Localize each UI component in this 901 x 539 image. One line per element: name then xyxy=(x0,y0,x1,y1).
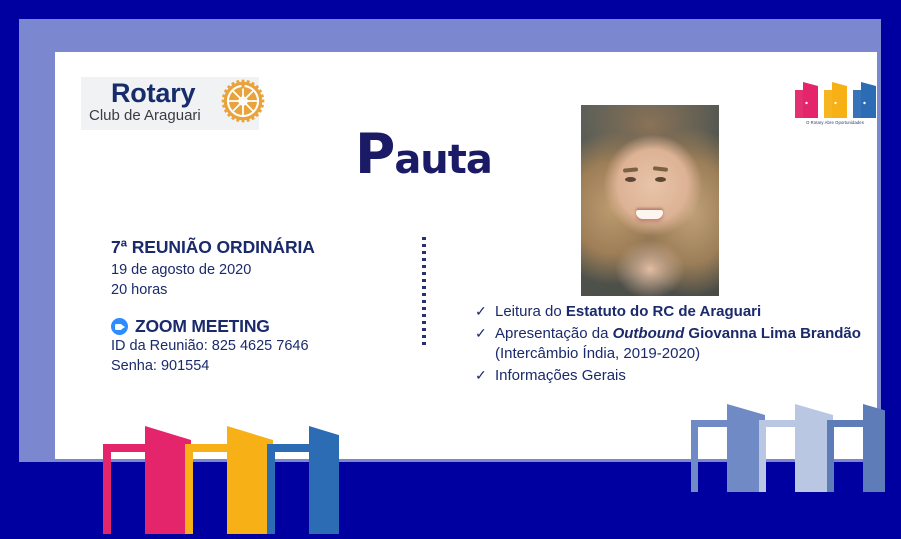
zoom-meeting-row: ZOOM MEETING xyxy=(111,316,411,337)
agenda-list: ✓Leitura do Estatuto do RC de Araguari✓A… xyxy=(475,302,865,388)
slide-content-panel: Rotary Club de Araguari xyxy=(55,52,877,459)
page-title: Pauta xyxy=(355,132,492,183)
check-icon: ✓ xyxy=(475,324,495,343)
page-title-capital: P xyxy=(355,122,394,186)
meeting-heading: 7ª REUNIÃO ORDINÁRIA xyxy=(111,237,411,258)
meeting-info-block: 7ª REUNIÃO ORDINÁRIA 19 de agosto de 202… xyxy=(111,237,411,376)
doors-right-icon xyxy=(689,384,885,492)
speaker-portrait-photo xyxy=(581,105,719,296)
rotary-club-name: Club de Araguari xyxy=(89,107,201,124)
portrait-brow-right xyxy=(653,166,668,171)
zoom-meeting-label: ZOOM MEETING xyxy=(135,316,270,337)
agenda-item: ✓Apresentação da Outbound Giovanna Lima … xyxy=(475,324,865,365)
rotary-club-logo: Rotary Club de Araguari xyxy=(81,77,259,130)
agenda-item-label: Leitura do Estatuto do RC de Araguari xyxy=(495,302,761,323)
theme-doors-icon xyxy=(789,74,881,120)
dotted-vertical-divider xyxy=(422,237,426,345)
agenda-item-label: Apresentação da Outbound Giovanna Lima B… xyxy=(495,324,865,365)
meeting-password: Senha: 901554 xyxy=(111,357,411,377)
rotary-wheel-icon xyxy=(217,75,269,127)
decorative-doors-bottom-left xyxy=(99,400,339,534)
agenda-item: ✓Leitura do Estatuto do RC de Araguari xyxy=(475,302,865,323)
meeting-date: 19 de agosto de 2020 xyxy=(111,261,411,281)
doors-left-icon xyxy=(99,400,339,534)
agenda-item-label: Informações Gerais xyxy=(495,366,626,387)
zoom-icon xyxy=(111,318,128,335)
portrait-eye-right xyxy=(655,177,666,182)
rotary-wordmark: Rotary xyxy=(111,78,195,109)
portrait-brow-left xyxy=(623,167,638,172)
rotary-theme-logo: O Rotary Abre Oportunidades xyxy=(789,74,881,136)
slide-inner-border: Rotary Club de Araguari xyxy=(19,19,881,462)
check-icon: ✓ xyxy=(475,366,495,385)
portrait-mouth xyxy=(636,210,663,219)
page-title-rest: auta xyxy=(394,137,492,183)
theme-logo-caption: O Rotary Abre Oportunidades xyxy=(789,120,881,125)
meeting-time: 20 horas xyxy=(111,281,411,301)
portrait-eye-left xyxy=(625,177,636,182)
check-icon: ✓ xyxy=(475,302,495,321)
slide-outer-border: Rotary Club de Araguari xyxy=(0,0,901,482)
meeting-id: ID da Reunião: 825 4625 7646 xyxy=(111,337,411,357)
decorative-doors-bottom-right xyxy=(689,384,885,492)
